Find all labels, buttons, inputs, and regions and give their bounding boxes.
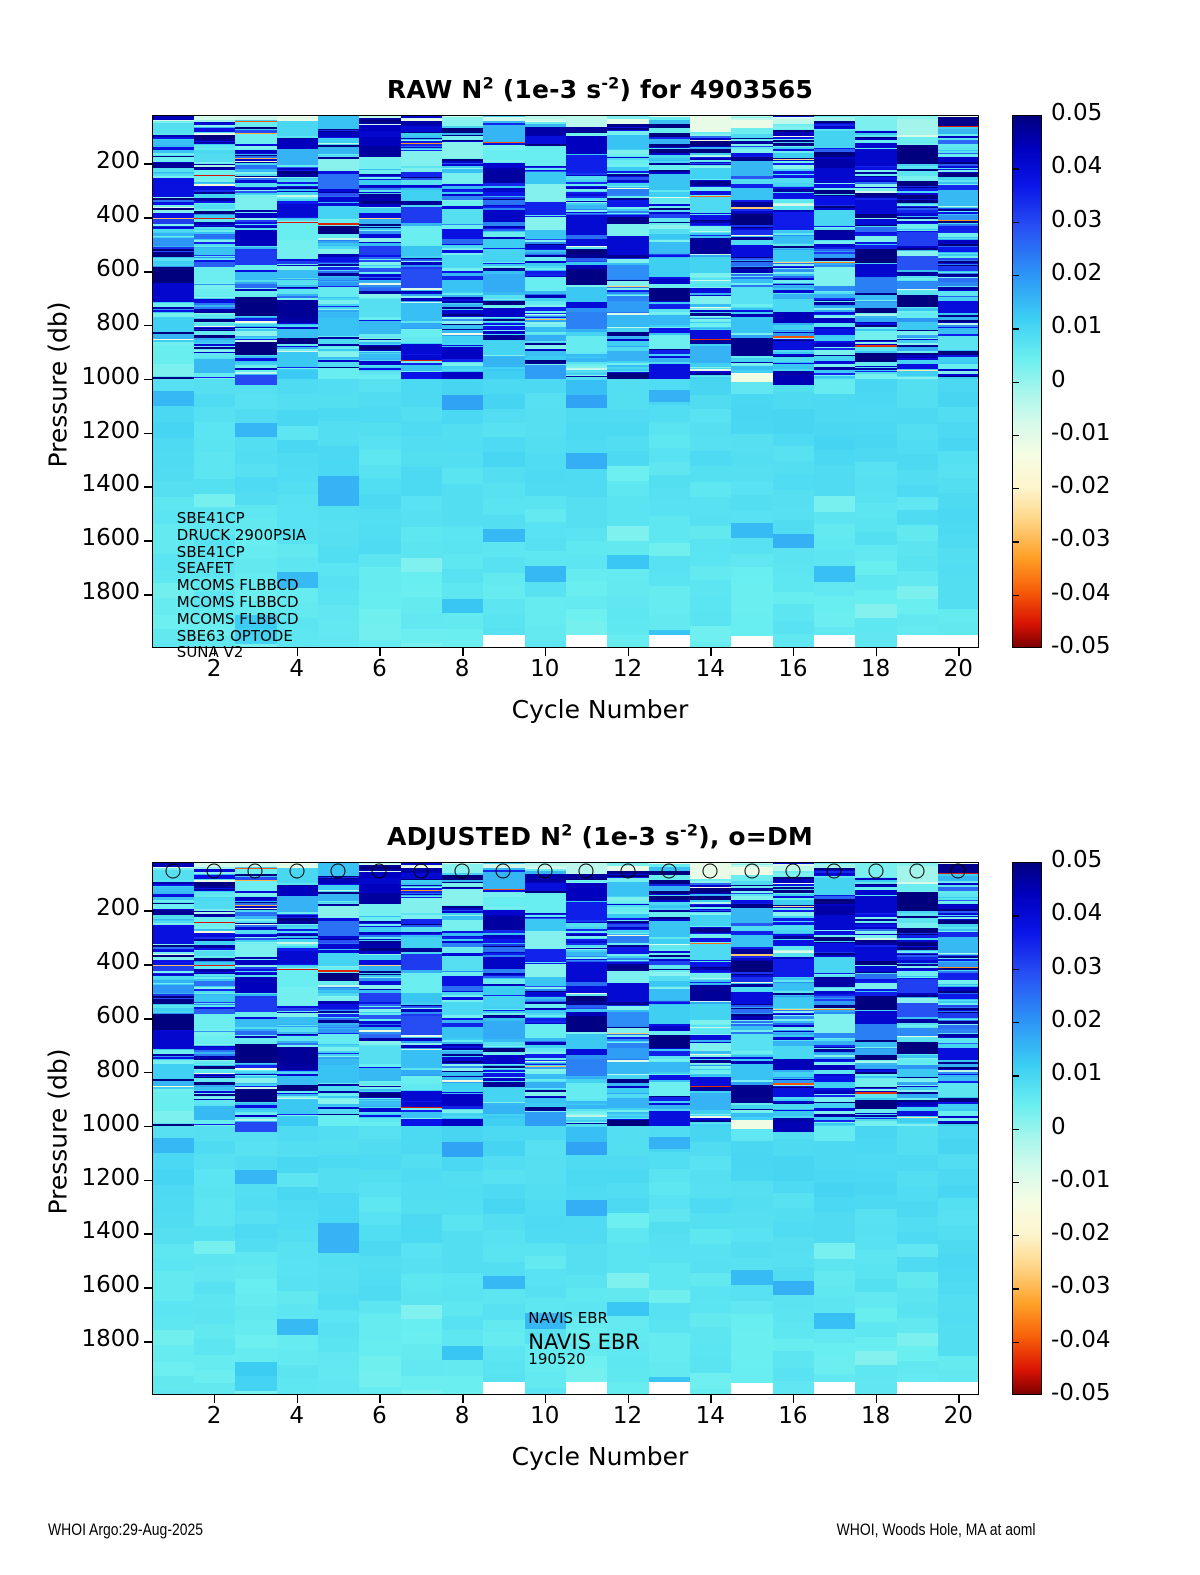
- adj-x-tick-label: 18: [836, 1403, 916, 1429]
- adj-x-tick-label: 8: [422, 1403, 502, 1429]
- raw-colorbar-tick-label: -0.04: [1051, 580, 1111, 606]
- raw-x-tick-mark: [462, 648, 463, 656]
- raw-heatmap-axes[interactable]: [152, 115, 979, 648]
- raw-y-tick-mark: [144, 271, 152, 272]
- raw-x-tick-mark: [545, 648, 546, 656]
- adj-y-tick-label: 800: [44, 1057, 140, 1083]
- raw-x-tick-label: 16: [753, 656, 833, 682]
- raw-y-tick-label: 200: [44, 148, 140, 174]
- adj-y-tick-mark: [144, 1126, 152, 1127]
- raw-x-tick-mark: [297, 648, 298, 656]
- adj-colorbar-tick-label: -0.02: [1051, 1220, 1111, 1246]
- adj-colorbar-tick-label: 0.04: [1051, 900, 1102, 926]
- adj-colorbar-tick-mark: [1012, 1022, 1019, 1023]
- raw-y-tick-mark: [144, 486, 152, 487]
- adj-colorbar-tick-label: -0.04: [1051, 1327, 1111, 1353]
- adjusted-x-axis-label: Cycle Number: [0, 1442, 1200, 1471]
- raw-colorbar-tick-label: 0.03: [1051, 207, 1102, 233]
- adj-colorbar-tick-mark: [1012, 1129, 1019, 1130]
- raw-y-tick-label: 600: [44, 256, 140, 282]
- raw-x-tick-label: 6: [339, 656, 419, 682]
- adj-colorbar-tick-mark: [1012, 1182, 1019, 1183]
- raw-y-tick-label: 1200: [44, 418, 140, 444]
- adj-y-tick-mark: [144, 964, 152, 965]
- adj-colorbar-tick-label: -0.03: [1051, 1273, 1111, 1299]
- raw-annotation: MCOMS FLBBCD: [177, 576, 299, 594]
- raw-colorbar-tick-mark: [1012, 595, 1019, 596]
- adj-x-tick-label: 14: [670, 1403, 750, 1429]
- adj-annotation: NAVIS EBR: [528, 1309, 608, 1327]
- adj-y-tick-mark: [144, 910, 152, 911]
- raw-colorbar-tick-mark: [1012, 328, 1019, 329]
- adj-x-tick-mark: [628, 1395, 629, 1403]
- raw-colorbar-tick-label: 0: [1051, 367, 1066, 393]
- raw-colorbar-tick-mark: [1012, 222, 1019, 223]
- raw-x-tick-label: 14: [670, 656, 750, 682]
- raw-x-tick-mark: [710, 648, 711, 656]
- raw-colorbar-tick-label: -0.02: [1051, 473, 1111, 499]
- adjusted-title-exponent: 2: [561, 821, 572, 840]
- raw-annotation: SEAFET: [177, 559, 234, 577]
- adj-colorbar-tick-label: -0.05: [1051, 1380, 1111, 1406]
- adj-x-tick-mark: [793, 1395, 794, 1403]
- raw-y-tick-mark: [144, 163, 152, 164]
- adj-y-tick-mark: [144, 1287, 152, 1288]
- raw-colorbar-tick-label: 0.02: [1051, 260, 1102, 286]
- raw-x-tick-label: 12: [588, 656, 668, 682]
- raw-y-tick-mark: [144, 217, 152, 218]
- adj-y-tick-label: 600: [44, 1003, 140, 1029]
- adj-x-tick-mark: [462, 1395, 463, 1403]
- adj-x-tick-label: 10: [505, 1403, 585, 1429]
- raw-y-tick-label: 1800: [44, 579, 140, 605]
- raw-annotation: MCOMS FLBBCD: [177, 610, 299, 628]
- adjusted-title-exponent-2: -2: [680, 821, 698, 840]
- adj-y-tick-mark: [144, 1341, 152, 1342]
- raw-x-tick-mark: [876, 648, 877, 656]
- raw-colorbar-tick-mark: [1012, 541, 1019, 542]
- raw-x-tick-label: 8: [422, 656, 502, 682]
- adj-y-tick-label: 200: [44, 895, 140, 921]
- adj-y-tick-mark: [144, 1233, 152, 1234]
- adj-colorbar-tick-label: 0.01: [1051, 1060, 1102, 1086]
- adj-colorbar-tick-label: 0.02: [1051, 1007, 1102, 1033]
- raw-y-tick-label: 1600: [44, 525, 140, 551]
- adj-colorbar-tick-mark: [1012, 1235, 1019, 1236]
- raw-panel-title: RAW N2 (1e-3 s-2) for 4903565: [0, 75, 1200, 104]
- raw-colorbar-tick-label: 0.01: [1051, 313, 1102, 339]
- adj-colorbar-tick-label: 0.03: [1051, 954, 1102, 980]
- raw-x-tick-mark: [628, 648, 629, 656]
- adjusted-title-end: ), o=DM: [698, 822, 813, 851]
- raw-y-tick-label: 800: [44, 310, 140, 336]
- raw-annotation: DRUCK 2900PSIA: [177, 526, 306, 544]
- raw-title-mid: (1e-3 s: [494, 75, 601, 104]
- adj-x-tick-label: 2: [174, 1403, 254, 1429]
- raw-title-main: RAW N: [387, 75, 483, 104]
- raw-x-tick-mark: [958, 648, 959, 656]
- adj-colorbar-tick-mark: [1012, 1288, 1019, 1289]
- raw-y-tick-mark: [144, 594, 152, 595]
- adj-colorbar-tick-label: -0.01: [1051, 1167, 1111, 1193]
- raw-title-end: ) for 4903565: [620, 75, 814, 104]
- adj-y-tick-label: 1600: [44, 1272, 140, 1298]
- adj-x-tick-label: 16: [753, 1403, 833, 1429]
- raw-y-tick-label: 1000: [44, 364, 140, 390]
- adj-x-tick-mark: [958, 1395, 959, 1403]
- raw-y-tick-label: 400: [44, 202, 140, 228]
- adj-x-tick-mark: [876, 1395, 877, 1403]
- footer-right-credit: WHOI, Woods Hole, MA at aoml: [836, 1520, 1035, 1540]
- raw-colorbar-tick-mark: [1012, 168, 1019, 169]
- raw-heatmap-image: [152, 115, 979, 648]
- adj-x-tick-mark: [297, 1395, 298, 1403]
- adj-y-tick-label: 1200: [44, 1165, 140, 1191]
- adjusted-panel-title: ADJUSTED N2 (1e-3 s-2), o=DM: [0, 822, 1200, 851]
- adj-x-tick-mark: [214, 1395, 215, 1403]
- raw-annotation: SBE41CP: [177, 509, 245, 527]
- raw-x-tick-label: 20: [918, 656, 998, 682]
- adj-x-tick-mark: [379, 1395, 380, 1403]
- footer-left-credit: WHOI Argo:29-Aug-2025: [48, 1520, 203, 1540]
- raw-y-tick-mark: [144, 540, 152, 541]
- panel-raw: RAW N2 (1e-3 s-2) for 4903565 Pressure (…: [0, 0, 1200, 760]
- raw-colorbar-tick-mark: [1012, 275, 1019, 276]
- panel-adjusted: ADJUSTED N2 (1e-3 s-2), o=DM Pressure (d…: [0, 740, 1200, 1500]
- adj-colorbar-tick-mark: [1012, 1075, 1019, 1076]
- adj-colorbar-tick-label: 0.05: [1051, 847, 1102, 873]
- raw-colorbar-tick-label: -0.05: [1051, 633, 1111, 659]
- raw-x-tick-label: 4: [257, 656, 337, 682]
- adj-x-tick-label: 6: [339, 1403, 419, 1429]
- raw-annotation: SBE41CP: [177, 543, 245, 561]
- adj-y-tick-mark: [144, 1072, 152, 1073]
- raw-colorbar-tick-label: -0.03: [1051, 526, 1111, 552]
- raw-x-tick-label: 10: [505, 656, 585, 682]
- raw-annotation: MCOMS FLBBCD: [177, 593, 299, 611]
- raw-x-tick-mark: [379, 648, 380, 656]
- raw-colorbar-tick-label: -0.01: [1051, 420, 1111, 446]
- adj-colorbar-tick-mark: [1012, 969, 1019, 970]
- adj-colorbar-tick-label: 0: [1051, 1114, 1066, 1140]
- raw-colorbar-tick-label: 0.04: [1051, 153, 1102, 179]
- adj-colorbar-tick-mark: [1012, 1342, 1019, 1343]
- adj-annotation: 190520: [528, 1350, 585, 1368]
- adj-colorbar-tick-mark: [1012, 915, 1019, 916]
- adj-y-tick-label: 1400: [44, 1218, 140, 1244]
- adj-x-tick-mark: [545, 1395, 546, 1403]
- raw-title-exponent-2: -2: [601, 74, 619, 93]
- raw-y-tick-label: 1400: [44, 471, 140, 497]
- adjusted-title-mid: (1e-3 s: [573, 822, 680, 851]
- raw-colorbar-tick-mark: [1012, 488, 1019, 489]
- raw-x-axis-label: Cycle Number: [0, 695, 1200, 724]
- raw-title-exponent: 2: [483, 74, 494, 93]
- adj-y-tick-label: 1000: [44, 1111, 140, 1137]
- raw-annotation: SUNA V2: [177, 643, 244, 661]
- adj-x-tick-label: 4: [257, 1403, 337, 1429]
- raw-colorbar-tick-mark: [1012, 435, 1019, 436]
- adjusted-title-main: ADJUSTED N: [387, 822, 561, 851]
- raw-x-tick-label: 18: [836, 656, 916, 682]
- adj-y-tick-label: 400: [44, 949, 140, 975]
- adj-y-tick-label: 1800: [44, 1326, 140, 1352]
- adj-x-tick-label: 20: [918, 1403, 998, 1429]
- raw-y-tick-mark: [144, 433, 152, 434]
- raw-colorbar-tick-label: 0.05: [1051, 100, 1102, 126]
- adj-y-tick-mark: [144, 1018, 152, 1019]
- adj-x-tick-label: 12: [588, 1403, 668, 1429]
- raw-y-tick-mark: [144, 325, 152, 326]
- adj-x-tick-mark: [710, 1395, 711, 1403]
- raw-colorbar-tick-mark: [1012, 382, 1019, 383]
- raw-x-tick-mark: [793, 648, 794, 656]
- adj-y-tick-mark: [144, 1180, 152, 1181]
- raw-y-tick-mark: [144, 379, 152, 380]
